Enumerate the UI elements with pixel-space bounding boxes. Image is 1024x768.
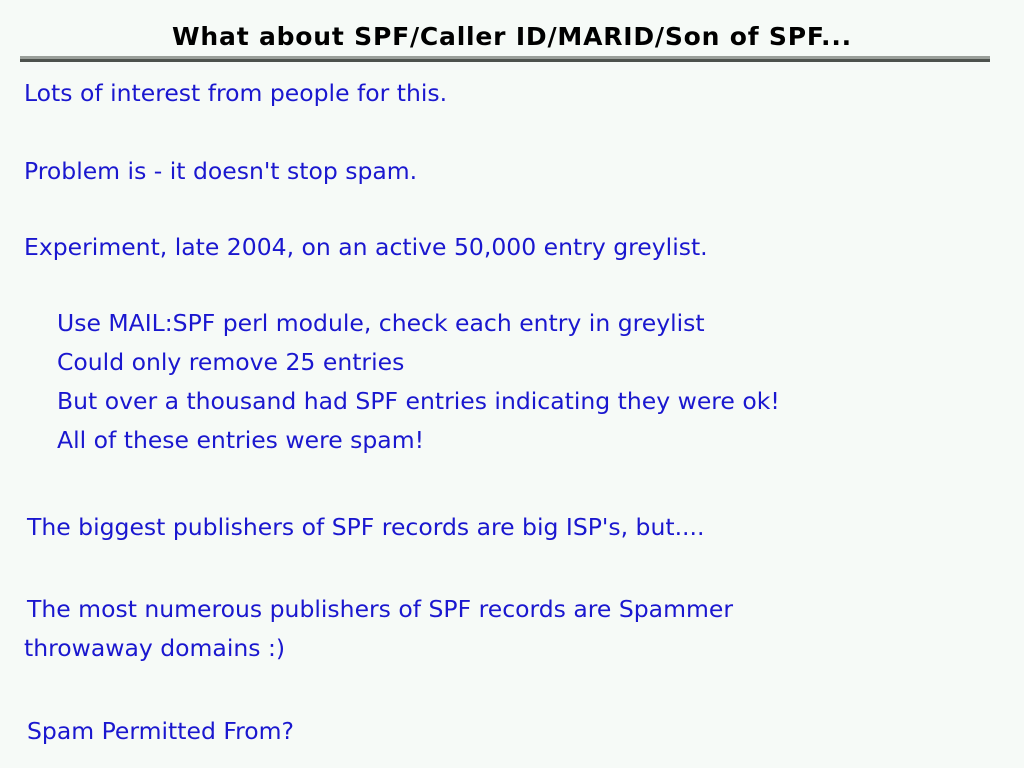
paragraph-lots-of-interest: Lots of interest from people for this.	[24, 74, 447, 113]
list-item: All of these entries were spam!	[57, 421, 780, 460]
slide: What about SPF/Caller ID/MARID/Son of SP…	[0, 0, 1024, 768]
paragraph-problem: Problem is - it doesn't stop spam.	[24, 152, 417, 191]
list-item: Could only remove 25 entries	[57, 343, 780, 382]
title-divider	[20, 56, 990, 62]
slide-body: Lots of interest from people for this. P…	[0, 66, 1024, 766]
page-title: What about SPF/Caller ID/MARID/Son of SP…	[0, 22, 1024, 52]
paragraph-most-numerous-line-1: The most numerous publishers of SPF reco…	[27, 595, 733, 623]
paragraph-spam-permitted-from: Spam Permitted From?	[27, 712, 294, 751]
paragraph-most-numerous-line-2: throwaway domains :)	[24, 634, 285, 662]
paragraph-most-numerous-publishers: The most numerous publishers of SPF reco…	[27, 590, 907, 668]
sub-bullet-list: Use MAIL:SPF perl module, check each ent…	[57, 304, 780, 460]
paragraph-experiment: Experiment, late 2004, on an active 50,0…	[24, 228, 708, 267]
paragraph-biggest-publishers: The biggest publishers of SPF records ar…	[27, 508, 704, 547]
list-item: But over a thousand had SPF entries indi…	[57, 382, 780, 421]
list-item: Use MAIL:SPF perl module, check each ent…	[57, 304, 780, 343]
